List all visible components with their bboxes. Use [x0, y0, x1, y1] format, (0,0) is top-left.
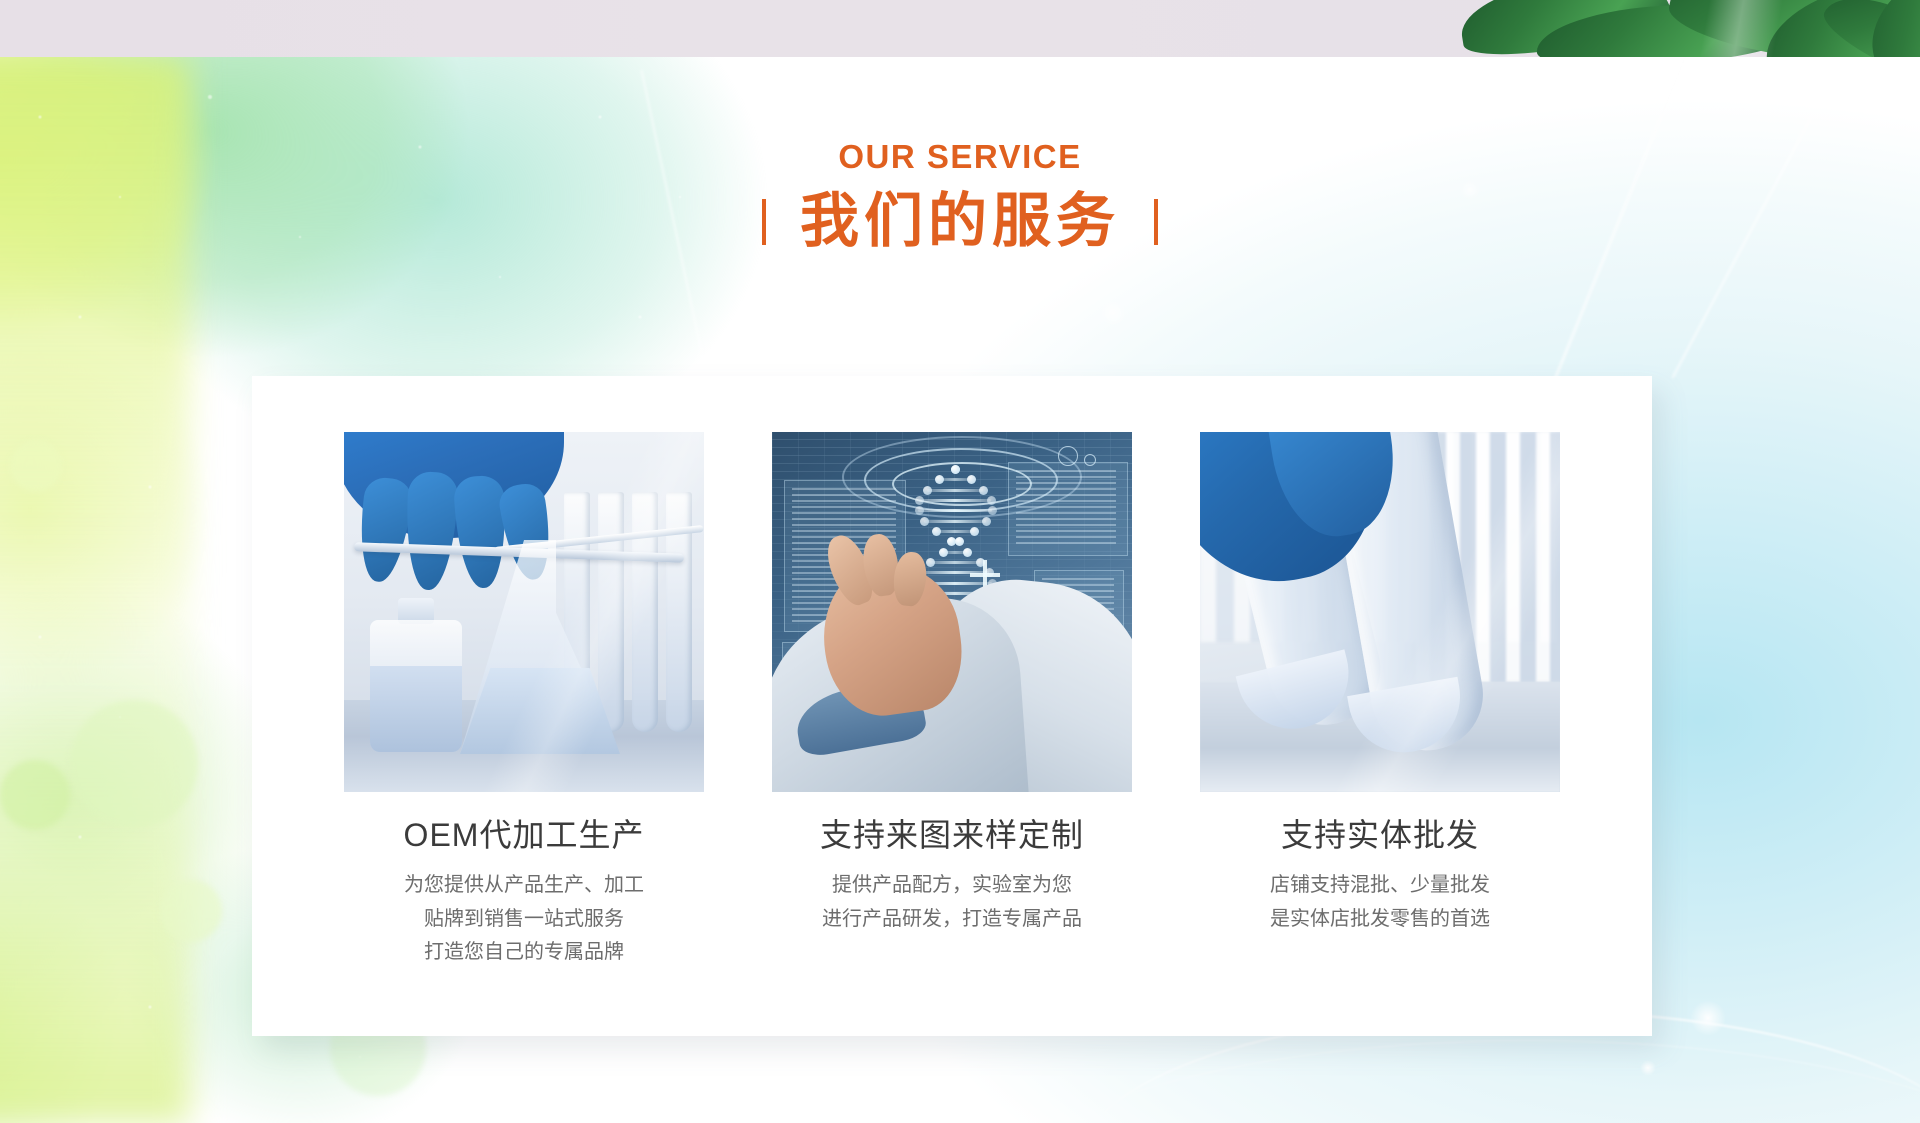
services-card-list: OEM代加工生产 为您提供从产品生产、加工 贴牌到销售一站式服务 打造您自己的专… [252, 376, 1652, 1036]
heading-eyebrow: OUR SERVICE [0, 140, 1920, 173]
service-card-description-line: 是实体店批发零售的首选 [1200, 903, 1560, 937]
page-title: 我们的服务 [800, 191, 1120, 253]
section-heading: OUR SERVICE 我们的服务 [0, 140, 1920, 253]
decor-bubble [0, 760, 70, 830]
decor-bubble [10, 440, 62, 492]
service-card-description-line: 为您提供从产品生产、加工 [344, 869, 704, 903]
dna-research-photo [772, 432, 1132, 792]
decor-bubble [70, 700, 198, 828]
service-card[interactable]: 支持实体批发 店铺支持混批、少量批发 是实体店批发零售的首选 [1200, 432, 1560, 1036]
decor-bubble [160, 880, 222, 942]
service-card-title: OEM代加工生产 [344, 818, 704, 853]
service-card-description-line: 店铺支持混批、少量批发 [1200, 869, 1560, 903]
lab-flask-photo [344, 432, 704, 792]
service-card-description: 提供产品配方，实验室为您 进行产品研发，打造专属产品 [772, 869, 1132, 936]
decor-glow [1640, 1060, 1656, 1076]
service-card-title: 支持来图来样定制 [772, 818, 1132, 853]
service-card-description-line: 提供产品配方，实验室为您 [772, 869, 1132, 903]
page-root: OUR SERVICE 我们的服务 [0, 0, 1920, 1123]
heading-title-row: 我们的服务 [0, 191, 1920, 253]
service-card-description: 店铺支持混批、少量批发 是实体店批发零售的首选 [1200, 869, 1560, 936]
heading-rule-left-icon [762, 199, 766, 245]
services-panel: OEM代加工生产 为您提供从产品生产、加工 贴牌到销售一站式服务 打造您自己的专… [252, 376, 1652, 1036]
service-card-description: 为您提供从产品生产、加工 贴牌到销售一站式服务 打造您自己的专属品牌 [344, 869, 704, 970]
service-card[interactable]: OEM代加工生产 为您提供从产品生产、加工 贴牌到销售一站式服务 打造您自己的专… [344, 432, 704, 1036]
service-card-title: 支持实体批发 [1200, 818, 1560, 853]
service-card[interactable]: 支持来图来样定制 提供产品配方，实验室为您 进行产品研发，打造专属产品 [772, 432, 1132, 1036]
plant-leaves-photo [1440, 0, 1920, 57]
test-tube-photo [1200, 432, 1560, 792]
decor-glow [1100, 300, 1126, 326]
service-card-description-line: 进行产品研发，打造专属产品 [772, 903, 1132, 937]
service-card-description-line: 打造您自己的专属品牌 [344, 936, 704, 970]
service-card-description-line: 贴牌到销售一站式服务 [344, 903, 704, 937]
heading-rule-right-icon [1154, 199, 1158, 245]
decor-glow [1690, 1000, 1726, 1036]
